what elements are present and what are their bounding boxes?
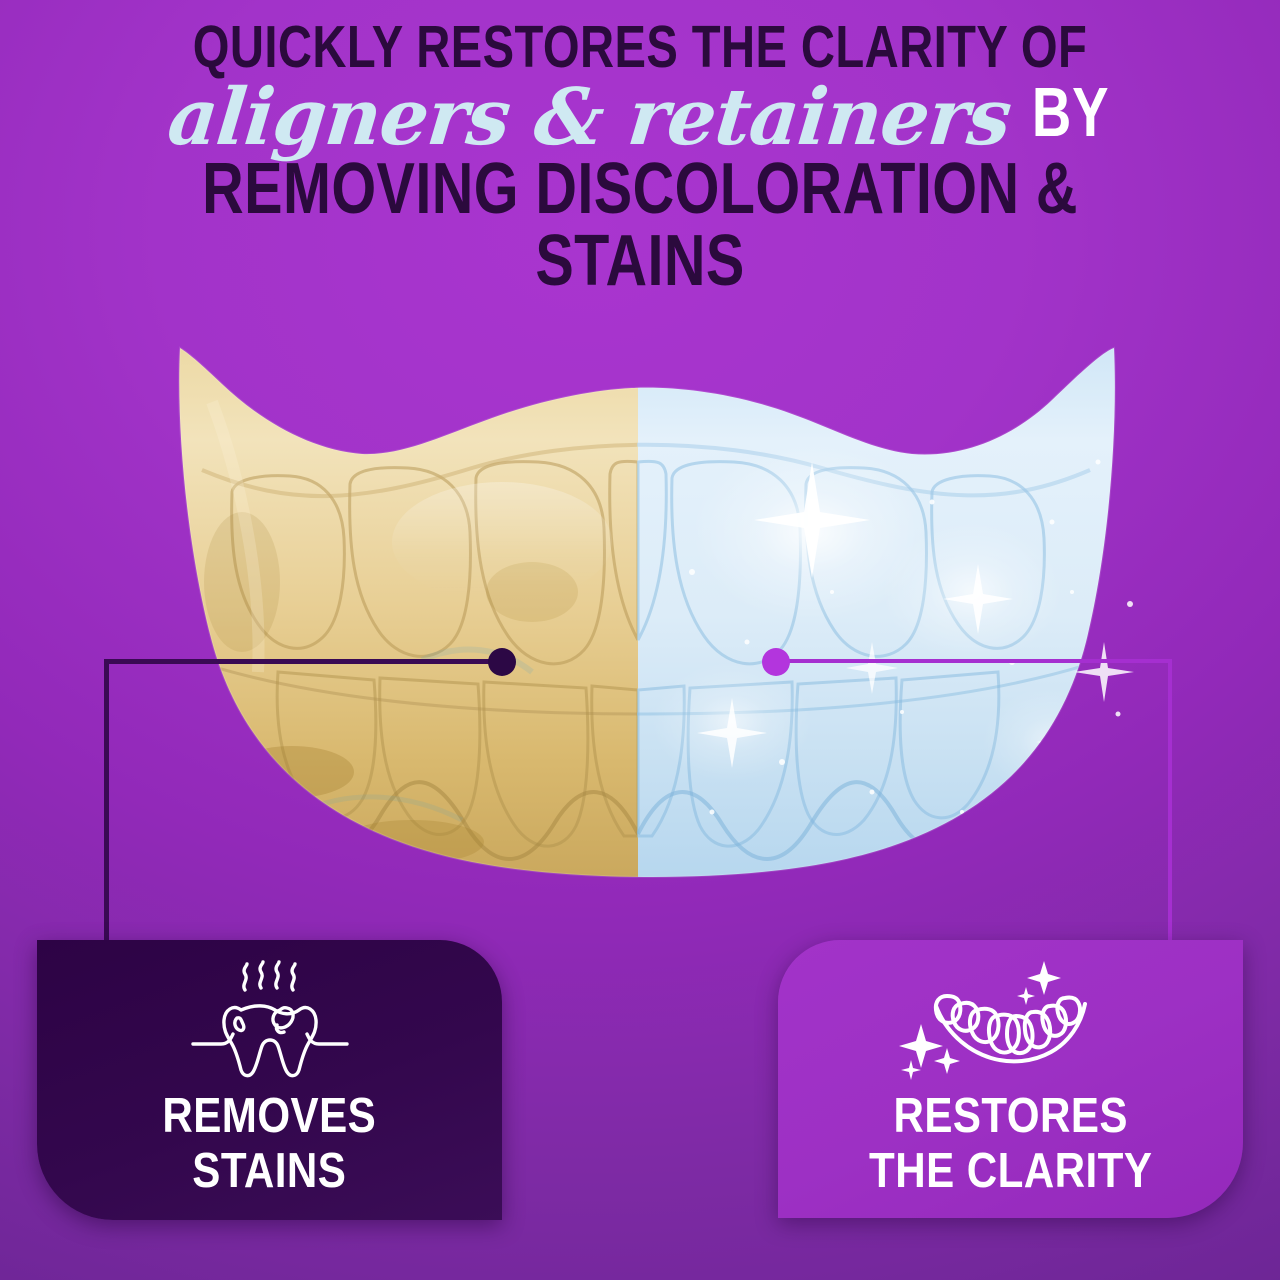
card-left-title: REMOVES STAINS [163, 1092, 377, 1196]
card-right-title-line2: THE CLARITY [869, 1147, 1152, 1196]
card-left-title-line2: STAINS [163, 1147, 377, 1196]
connector-left-horizontal [108, 659, 494, 664]
headline-line-1: QUICKLY RESTORES THE CLARITY OF [128, 18, 1152, 77]
headline-by-text: BY [1032, 77, 1109, 147]
sparkle-cluster-lower-left [895, 1020, 967, 1082]
callout-dot-right [762, 648, 790, 676]
benefit-card-removes-stains: REMOVES STAINS [37, 940, 502, 1220]
connector-left-vertical [104, 659, 109, 947]
card-right-title: RESTORES THE CLARITY [869, 1092, 1152, 1196]
aligner-illustration [172, 342, 1122, 887]
connector-right-vertical [1168, 659, 1172, 947]
headline-line-3: REMOVING DISCOLORATION & STAINS [128, 153, 1152, 297]
card-left-title-line1: REMOVES [163, 1089, 377, 1143]
aligner-hero-image [172, 342, 1122, 887]
infographic-canvas: QUICKLY RESTORES THE CLARITY OF aligners… [0, 0, 1280, 1280]
headline-block: QUICKLY RESTORES THE CLARITY OF aligners… [0, 18, 1280, 297]
sparkle-cluster-upper-right [1012, 957, 1072, 1007]
benefit-card-restores-clarity: RESTORES THE CLARITY [778, 940, 1243, 1218]
callout-dot-left [488, 648, 516, 676]
headline-line-2: aligners & retainersBY [0, 77, 1280, 157]
connector-right-horizontal [776, 659, 1172, 663]
card-right-title-line1: RESTORES [893, 1089, 1127, 1143]
stained-tooth-icon [185, 962, 355, 1080]
headline-script-text: aligners & retainers [165, 79, 1015, 157]
